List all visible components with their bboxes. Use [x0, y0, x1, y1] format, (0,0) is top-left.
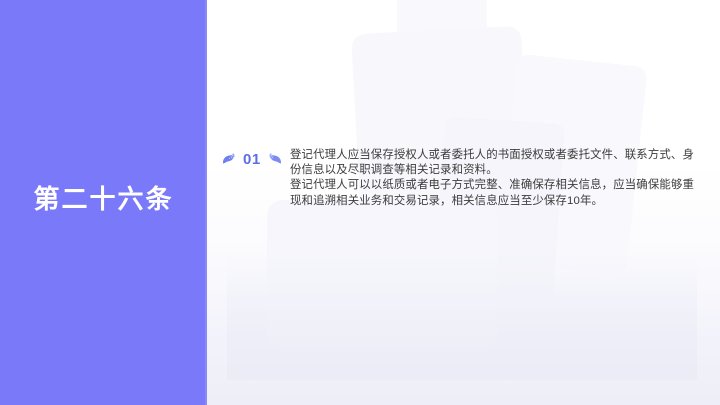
leaf-icon	[265, 152, 282, 167]
watermark-shape	[267, 200, 497, 350]
watermark-shape	[351, 26, 533, 265]
leaf-icon	[222, 152, 239, 167]
watermark-shape	[227, 250, 697, 380]
body-paragraph-1: 登记代理人应当保存授权人或者委托人的书面授权或者委托文件、联系方式、身份信息以及…	[290, 148, 694, 178]
title-panel: 第二十六条	[0, 0, 207, 405]
section-marker: 01	[222, 148, 282, 170]
watermark-shape	[397, 0, 487, 120]
body-text: 登记代理人应当保存授权人或者委托人的书面授权或者委托文件、联系方式、身份信息以及…	[290, 148, 694, 209]
slide: 第二十六条 01 登记代理人应当保存授权人或者委托人的书面授权或者委托文件、联系…	[0, 0, 720, 405]
section-number: 01	[243, 152, 261, 167]
watermark-shape	[433, 116, 565, 304]
body-paragraph-2: 登记代理人可以以纸质或者电子方式完整、准确保存相关信息，应当确保能够重现和追溯相…	[290, 178, 694, 208]
slide-title: 第二十六条	[0, 182, 207, 216]
